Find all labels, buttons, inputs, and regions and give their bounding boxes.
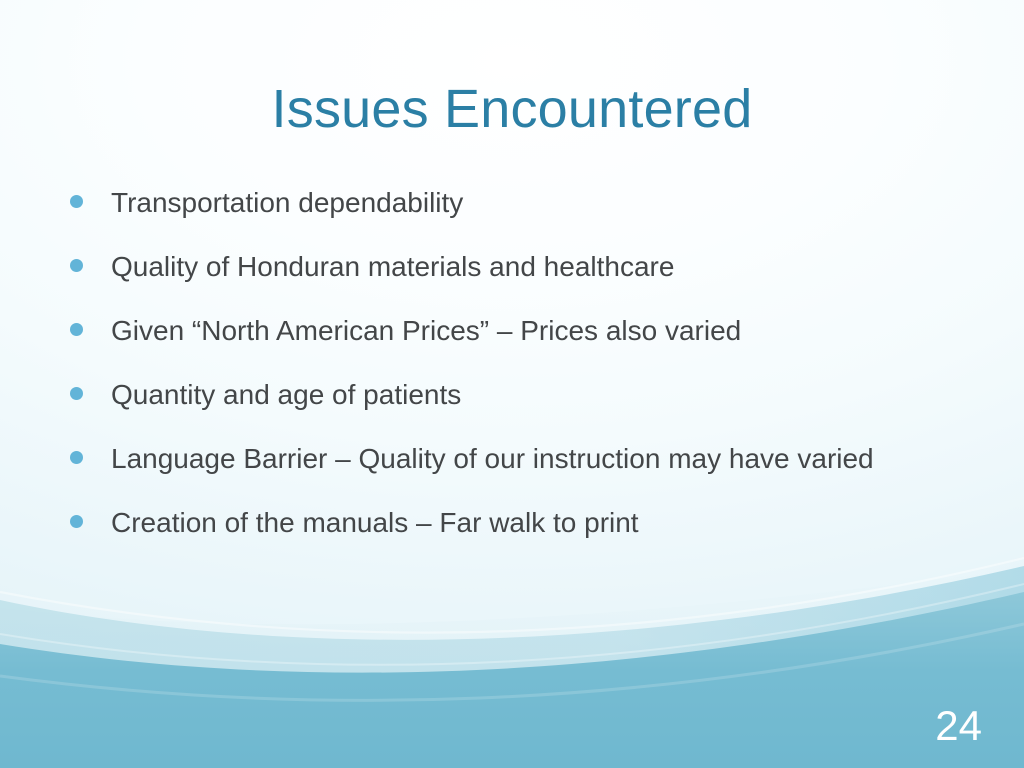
list-item-text: Language Barrier – Quality of our instru… xyxy=(111,440,941,478)
bullet-list: Transportation dependability Quality of … xyxy=(70,184,970,568)
bullet-dot-icon xyxy=(70,323,83,336)
wave-highlight-upper xyxy=(0,558,1024,633)
wave-layer-main xyxy=(0,592,1024,768)
list-item: Quality of Honduran materials and health… xyxy=(70,248,970,286)
bullet-dot-icon xyxy=(70,515,83,528)
wave-footer-decoration xyxy=(0,548,1024,768)
bullet-dot-icon xyxy=(70,387,83,400)
bullet-dot-icon xyxy=(70,259,83,272)
wave-layer-light xyxy=(0,566,1024,768)
wave-highlight-lower xyxy=(0,584,1024,665)
wave-highlight-inner xyxy=(0,624,1024,700)
presentation-slide: Issues Encountered Transportation depend… xyxy=(0,0,1024,768)
list-item-text: Transportation dependability xyxy=(111,184,941,222)
list-item-text: Creation of the manuals – Far walk to pr… xyxy=(111,504,941,542)
list-item: Transportation dependability xyxy=(70,184,970,222)
slide-number: 24 xyxy=(935,702,982,750)
wave-haze-layer xyxy=(0,568,1024,768)
bullet-dot-icon xyxy=(70,451,83,464)
slide-title: Issues Encountered xyxy=(0,78,1024,140)
list-item-text: Quality of Honduran materials and health… xyxy=(111,248,941,286)
list-item: Quantity and age of patients xyxy=(70,376,970,414)
list-item-text: Quantity and age of patients xyxy=(111,376,941,414)
list-item: Creation of the manuals – Far walk to pr… xyxy=(70,504,970,542)
bullet-dot-icon xyxy=(70,195,83,208)
list-item: Language Barrier – Quality of our instru… xyxy=(70,440,970,478)
list-item-text: Given “North American Prices” – Prices a… xyxy=(111,312,941,350)
list-item: Given “North American Prices” – Prices a… xyxy=(70,312,970,350)
